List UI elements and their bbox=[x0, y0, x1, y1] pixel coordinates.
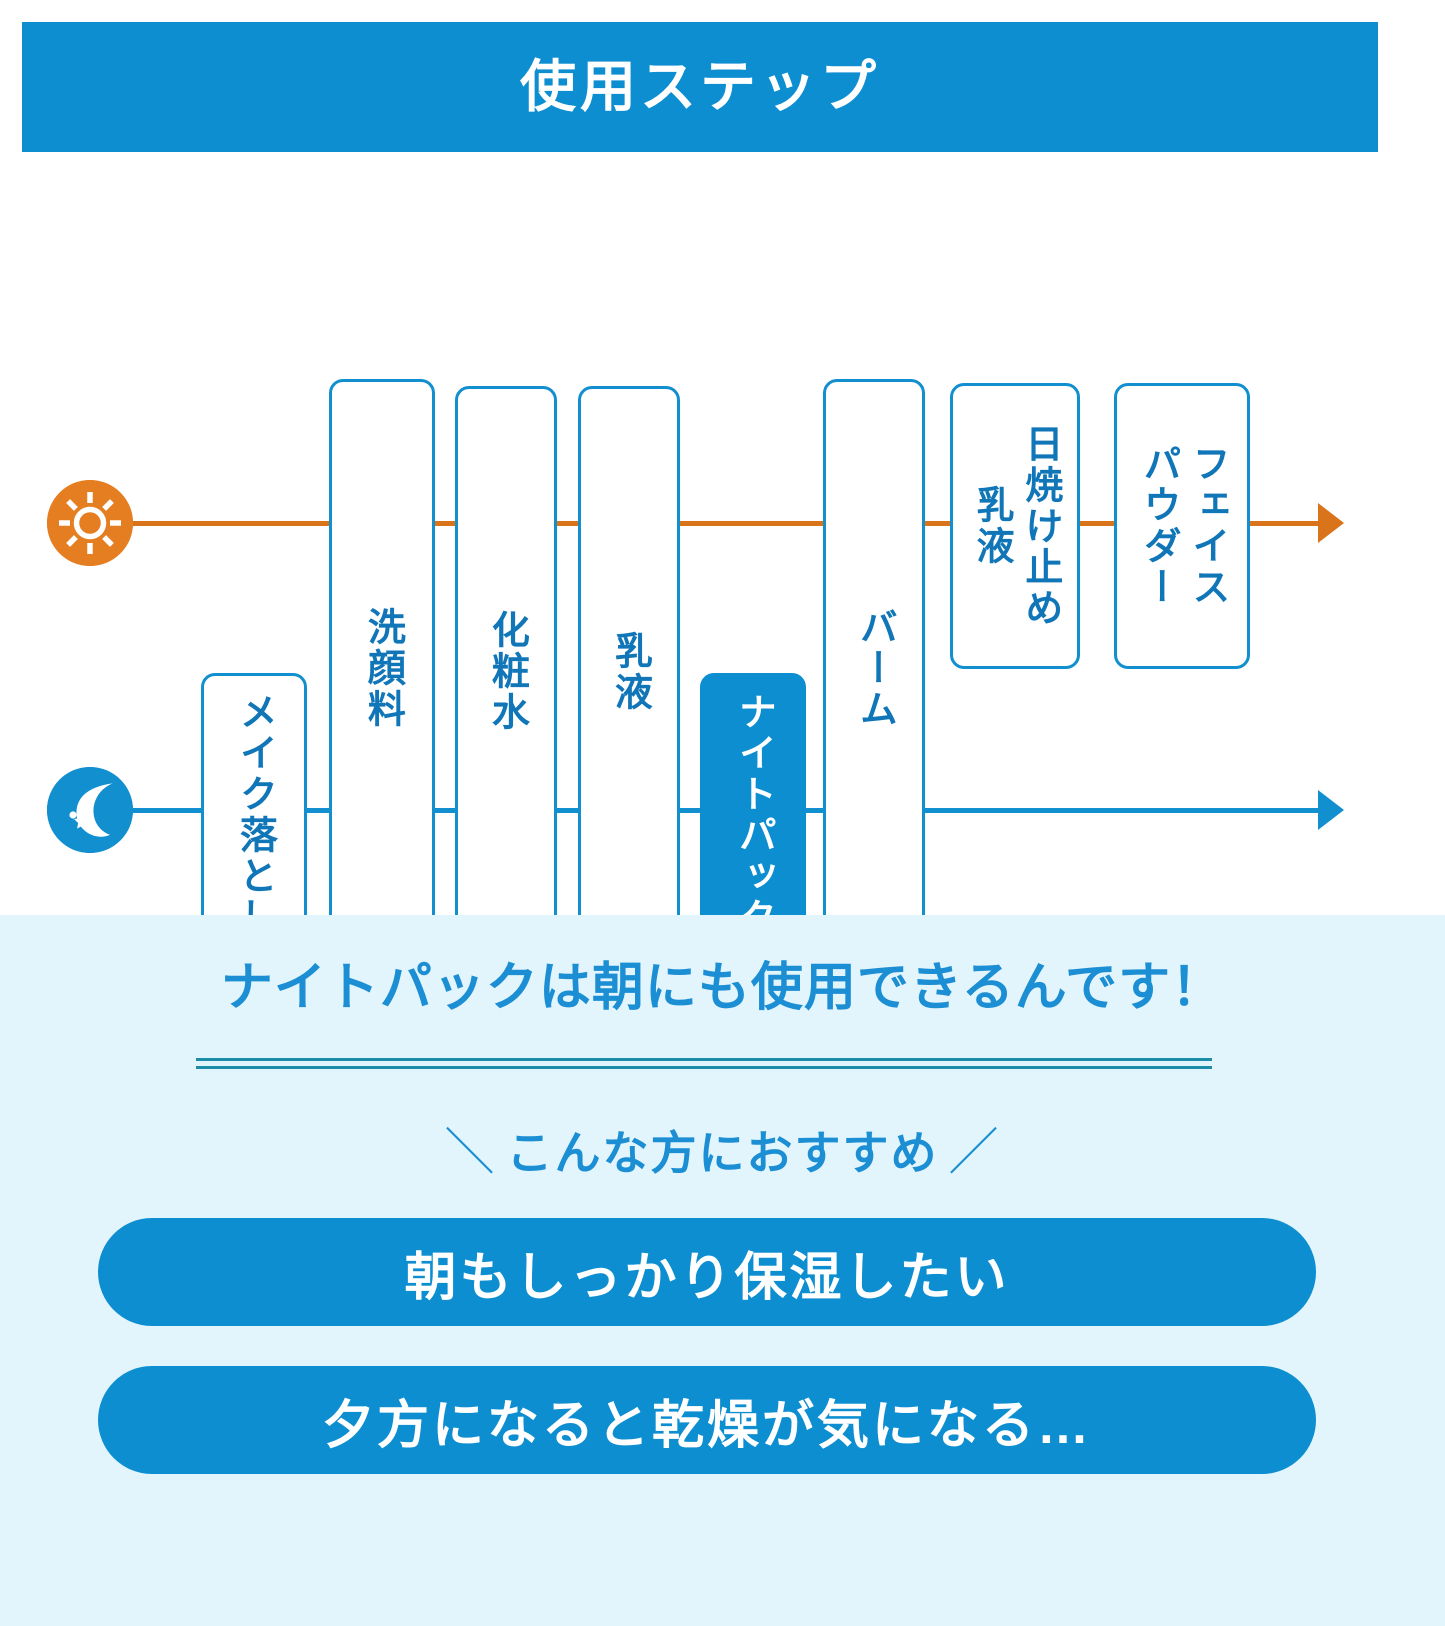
usage-flow-diagram: メイク落とし 洗顔料 化粧水 乳液 ナイトパック バーム 日焼け止め 乳液 フェ… bbox=[0, 155, 1445, 915]
page-header-banner: 使用ステップ bbox=[22, 22, 1378, 152]
night-flow-arrow-icon bbox=[1318, 790, 1344, 830]
step-box-lotion: 化粧水 bbox=[455, 386, 557, 957]
day-flow-arrow-icon bbox=[1318, 503, 1344, 543]
moon-icon bbox=[47, 767, 133, 853]
step-box-face-wash: 洗顔料 bbox=[329, 379, 435, 957]
step-box-balm: バーム bbox=[823, 379, 925, 957]
step-label-face-powder-col2: パウダー bbox=[1135, 444, 1180, 608]
slash-right-decoration: ／ bbox=[939, 1112, 1011, 1184]
step-box-face-powder: フェイス パウダー bbox=[1114, 383, 1250, 669]
slash-left-decoration: ＼ bbox=[435, 1112, 507, 1184]
underline-line-top bbox=[196, 1058, 1212, 1061]
recommend-pill-dryness[interactable]: 夕方になると乾燥が気になる… bbox=[98, 1366, 1316, 1474]
recommend-pill-moisture[interactable]: 朝もしっかり保湿したい bbox=[98, 1218, 1316, 1326]
recommend-pill-dryness-label: 夕方になると乾燥が気になる… bbox=[322, 1383, 1092, 1458]
step-label-emulsion: 乳液 bbox=[607, 631, 652, 713]
step-label-makeup-remover: メイク落とし bbox=[232, 692, 277, 938]
step-label-sunscreen-col2: 乳液 bbox=[968, 485, 1013, 567]
page-title: 使用ステップ bbox=[520, 59, 880, 115]
step-label-balm: バーム bbox=[852, 607, 897, 730]
headline-text: ナイトパックは朝にも使用できるんです！ bbox=[221, 960, 1224, 1017]
headline-double-underline bbox=[196, 1058, 1212, 1070]
step-label-face-wash: 洗顔料 bbox=[360, 607, 405, 730]
recommend-pill-moisture-label: 朝もしっかり保湿したい bbox=[404, 1235, 1009, 1310]
step-label-face-powder-col1: フェイス bbox=[1184, 444, 1229, 608]
recommend-heading: ＼こんな方におすすめ／ bbox=[0, 1112, 1445, 1184]
step-label-night-pack: ナイトパック bbox=[731, 692, 776, 938]
underline-line-bottom bbox=[196, 1066, 1212, 1069]
step-label-sunscreen-col1: 日焼け止め bbox=[1017, 424, 1062, 629]
step-box-sunscreen: 日焼け止め 乳液 bbox=[950, 383, 1080, 669]
step-label-lotion: 化粧水 bbox=[484, 610, 529, 733]
headline-wrap: ナイトパックは朝にも使用できるんです！ bbox=[0, 960, 1445, 1017]
sun-icon bbox=[47, 480, 133, 566]
recommend-heading-text: こんな方におすすめ bbox=[507, 1127, 939, 1179]
step-box-emulsion: 乳液 bbox=[578, 386, 680, 957]
